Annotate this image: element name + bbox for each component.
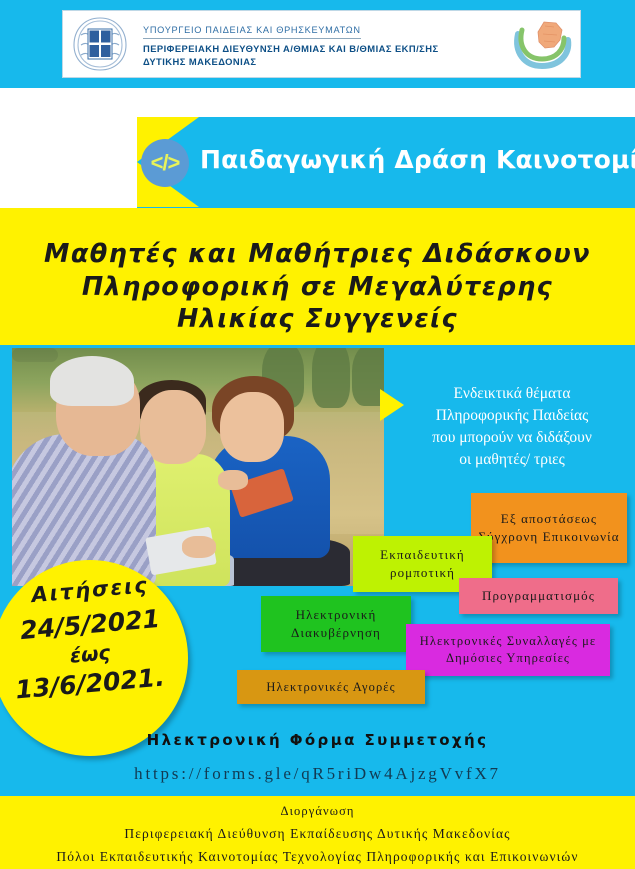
- themes-intro-line-3: που μπορούν να διδάξουν: [398, 427, 626, 449]
- code-brackets-icon: </>: [141, 139, 189, 187]
- themes-intro-line-2: Πληροφορικής Παιδείας: [398, 405, 626, 427]
- photo-woman-head: [220, 392, 284, 462]
- page-title-line-2: Πληροφορική σε Μεγαλύτερης: [0, 271, 635, 304]
- topic-box-e-transactions: Ηλεκτρονικές Συναλλαγές με Δημόσιες Υπηρ…: [406, 624, 610, 676]
- photo-hand: [218, 470, 248, 490]
- west-macedonia-region-logo: [510, 14, 574, 74]
- poster-canvas: ΥΠΟΥΡΓΕΙΟ ΠΑΙΔΕΙΑΣ ΚΑΙ ΘΡΗΣΚΕΥΜΑΤΩΝ ΠΕΡΙ…: [0, 0, 635, 869]
- themes-intro-text: Ενδεικτικά θέματα Πληροφορικής Παιδείας …: [398, 383, 626, 471]
- regional-directorate-line-a: ΠΕΡΙΦΕΡΕΙΑΚΗ ΔΙΕΥΘΥΝΣΗ Α/ΘΜΙΑΣ ΚΑΙ Β/ΘΜΙ…: [143, 43, 439, 54]
- footer: Διοργάνωση Περιφερειακή Διεύθυνση Εκπαίδ…: [0, 796, 635, 869]
- page-title-line-3: Ηλικίας Συγγενείς: [0, 303, 635, 336]
- themes-intro-line-4: οι μαθητές/ τριες: [398, 449, 626, 471]
- regional-directorate-name: ΠΕΡΙΦΕΡΕΙΑΚΗ ΔΙΕΥΘΥΝΣΗ Α/ΘΜΙΑΣ ΚΑΙ Β/ΘΜΙ…: [143, 43, 506, 68]
- applications-text: Αιτήσεις 24/5/2021 έως 13/6/2021.: [0, 578, 188, 698]
- topic-box-remote-communication: Εξ αποστάσεως Σύγχρονη Επικοινωνία: [471, 493, 627, 563]
- applications-deadline-badge: Αιτήσεις 24/5/2021 έως 13/6/2021.: [0, 560, 188, 756]
- family-photo: [12, 348, 384, 586]
- topic-box-e-markets: Ηλεκτρονικές Αγορές: [237, 670, 425, 704]
- footer-innovation-poles: Πόλοι Εκπαιδευτικής Καινοτομίας Τεχνολογ…: [0, 849, 635, 865]
- header-band: ΥΠΟΥΡΓΕΙΟ ΠΑΙΔΕΙΑΣ ΚΑΙ ΘΡΗΣΚΕΥΜΑΤΩΝ ΠΕΡΙ…: [0, 0, 635, 88]
- topic-box-e-government: Ηλεκτρονική Διακυβέρνηση: [261, 596, 411, 652]
- ministry-name: ΥΠΟΥΡΓΕΙΟ ΠΑΙΔΕΙΑΣ ΚΑΙ ΘΡΗΣΚΕΥΜΑΤΩΝ: [143, 25, 361, 39]
- ministry-text-block: ΥΠΟΥΡΓΕΙΟ ΠΑΙΔΕΙΑΣ ΚΑΙ ΘΡΗΣΚΕΥΜΑΤΩΝ ΠΕΡΙ…: [131, 20, 510, 68]
- footer-organizer-name: Περιφερειακή Διεύθυνση Εκπαίδευσης Δυτικ…: [0, 826, 635, 842]
- photo-man-hair: [50, 356, 134, 406]
- action-banner-title: Παιδαγωγική Δράση Καινοτομίας: [200, 145, 620, 174]
- photo-tree: [312, 348, 350, 408]
- code-glyph-text: </>: [151, 150, 180, 176]
- footer-organizer-label: Διοργάνωση: [0, 804, 635, 819]
- greek-coat-of-arms-icon: [69, 15, 131, 73]
- participation-form-url[interactable]: https://forms.gle/qR5riDw4AjzgVvfX7: [0, 764, 635, 784]
- topic-box-programming: Προγραμματισμός: [459, 578, 618, 614]
- participation-form-label: Ηλεκτρονική Φόρμα Συμμετοχής: [0, 731, 635, 749]
- photo-hand: [182, 536, 216, 558]
- ministry-logo-card: ΥΠΟΥΡΓΕΙΟ ΠΑΙΔΕΙΑΣ ΚΑΙ ΘΡΗΣΚΕΥΜΑΤΩΝ ΠΕΡΙ…: [62, 10, 581, 78]
- page-title-line-1: Μαθητές και Μαθήτριες Διδάσκουν: [0, 238, 635, 271]
- page-title: Μαθητές και Μαθήτριες Διδάσκουν Πληροφορ…: [0, 238, 635, 336]
- regional-directorate-line-b: ΔΥΤΙΚΗΣ ΜΑΚΕΔΟΝΙΑΣ: [143, 56, 257, 67]
- themes-intro-line-1: Ενδεικτικά θέματα: [398, 383, 626, 405]
